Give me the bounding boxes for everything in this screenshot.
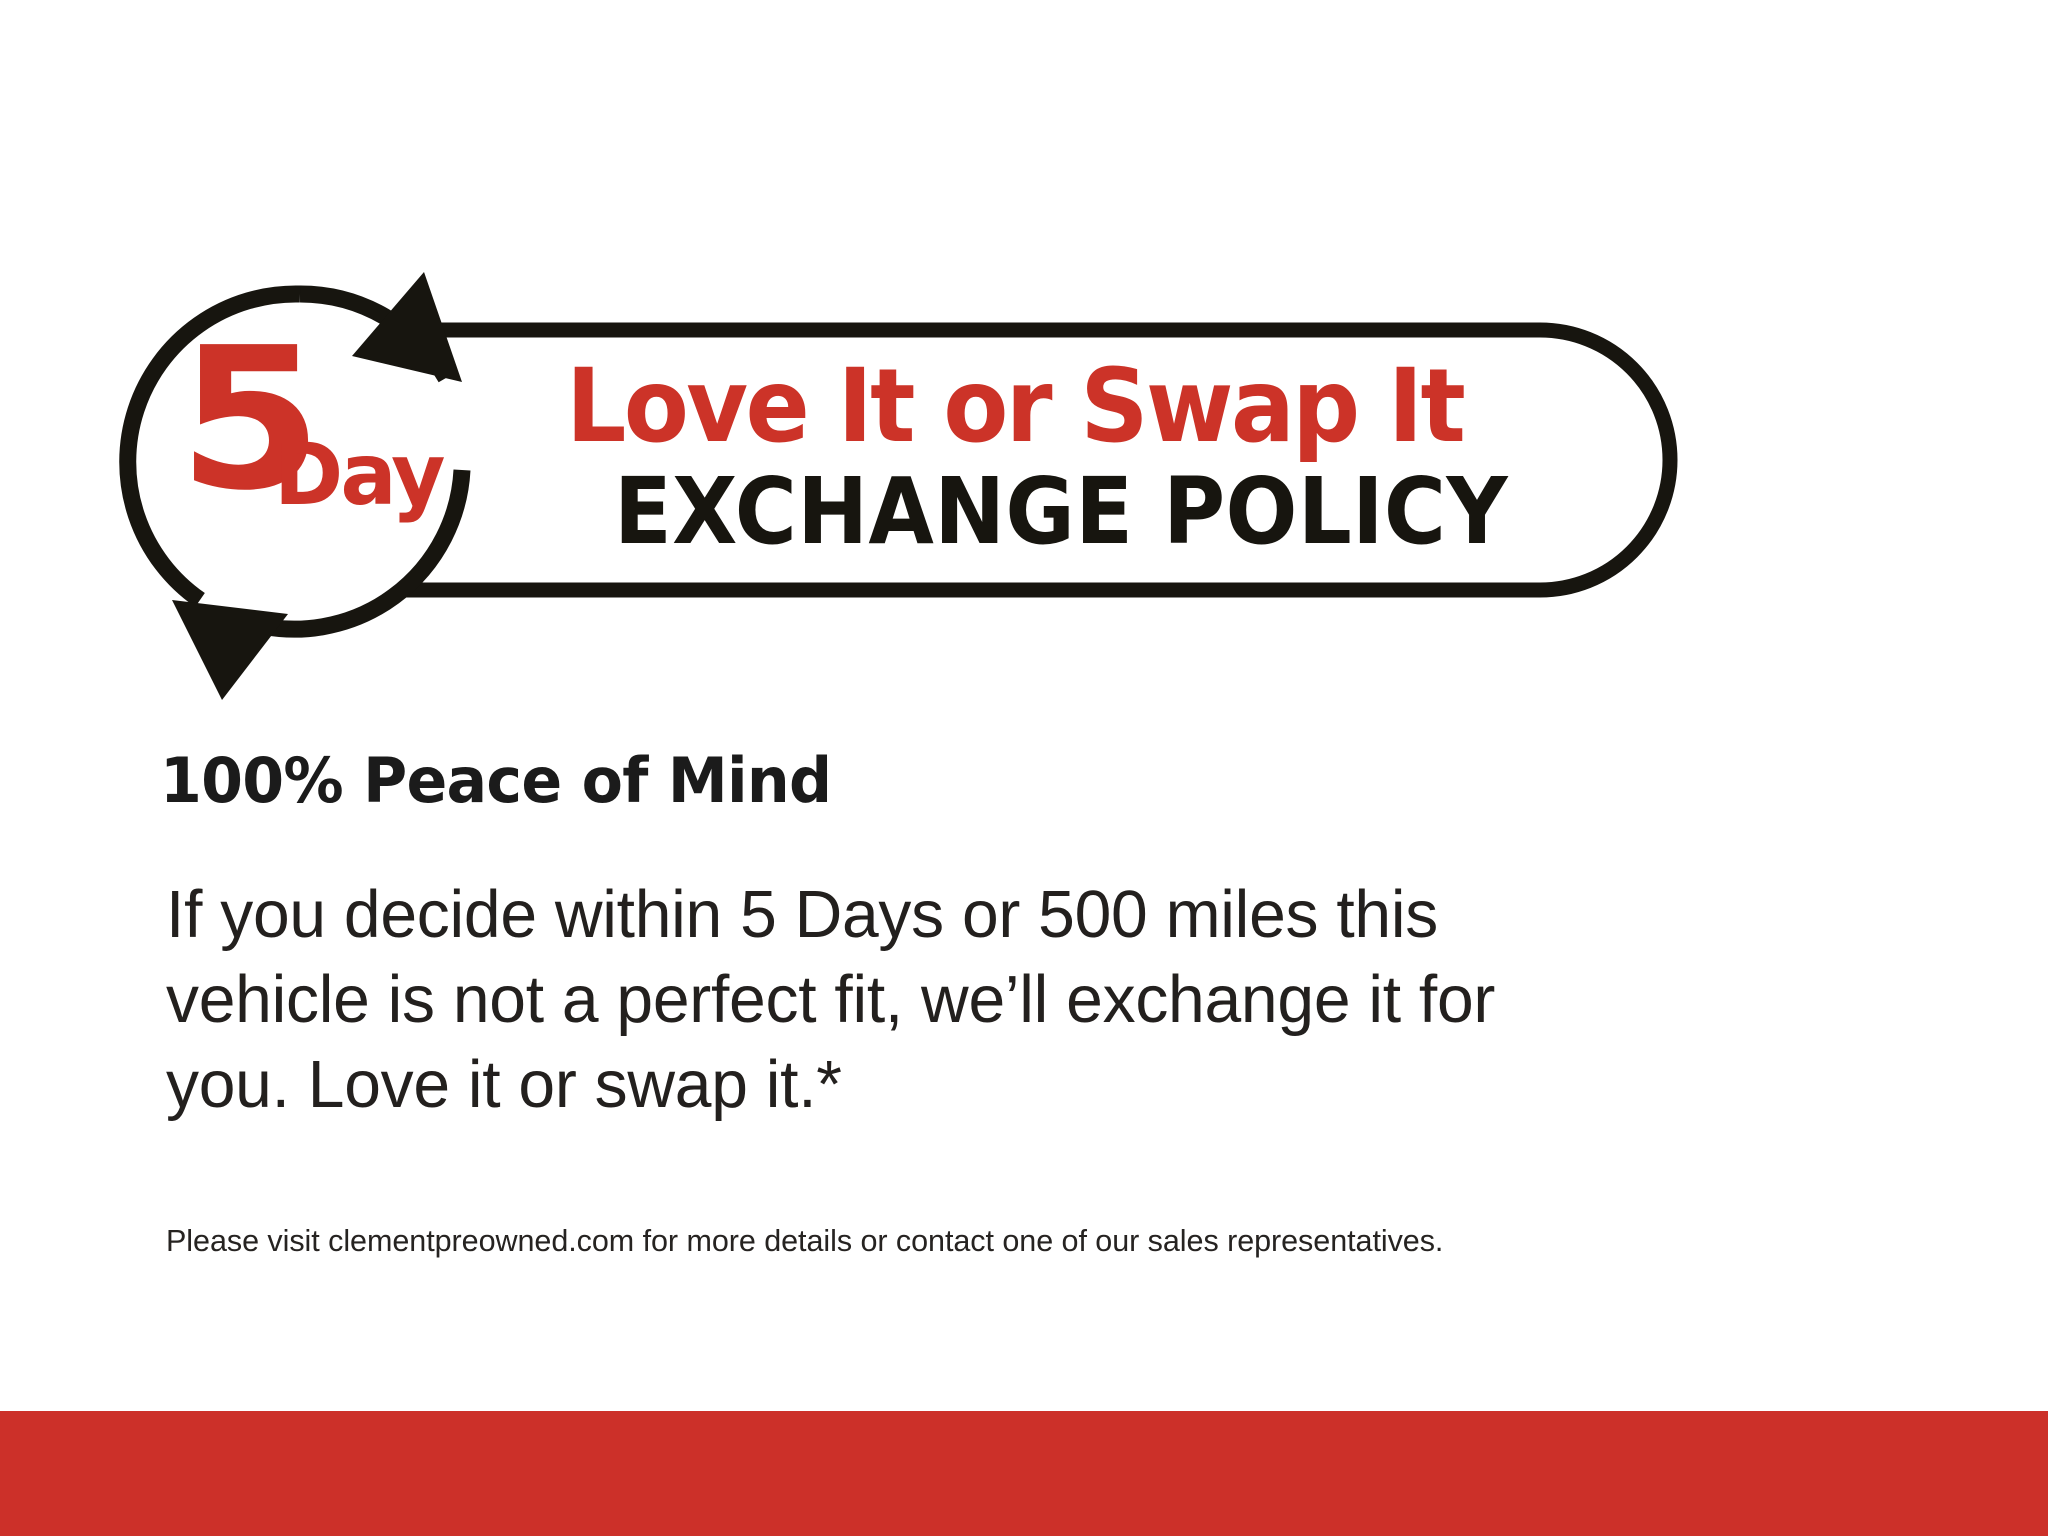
policy-paragraph-line: vehicle is not a perfect fit, we’ll exch… — [166, 957, 1762, 1042]
footer-color-band — [0, 1411, 2048, 1536]
banner-headline-primary: Love It or Swap It — [566, 356, 1463, 458]
policy-paragraph-line: you. Love it or swap it.* — [166, 1042, 1762, 1127]
badge-day-label: Day — [274, 432, 443, 518]
policy-paragraph: If you decide within 5 Days or 500 miles… — [166, 872, 1762, 1127]
policy-paragraph-line: If you decide within 5 Days or 500 miles… — [166, 872, 1762, 957]
banner-headline-secondary: EXCHANGE POLICY — [614, 466, 1508, 558]
footnote-text: Please visit clementpreowned.com for mor… — [166, 1222, 1443, 1259]
arrowhead-bottom-icon — [172, 600, 288, 700]
slide-root: 5 Day Love It or Swap It EXCHANGE POLICY… — [0, 0, 2048, 1536]
peace-of-mind-subhead: 100% Peace of Mind — [160, 750, 831, 812]
